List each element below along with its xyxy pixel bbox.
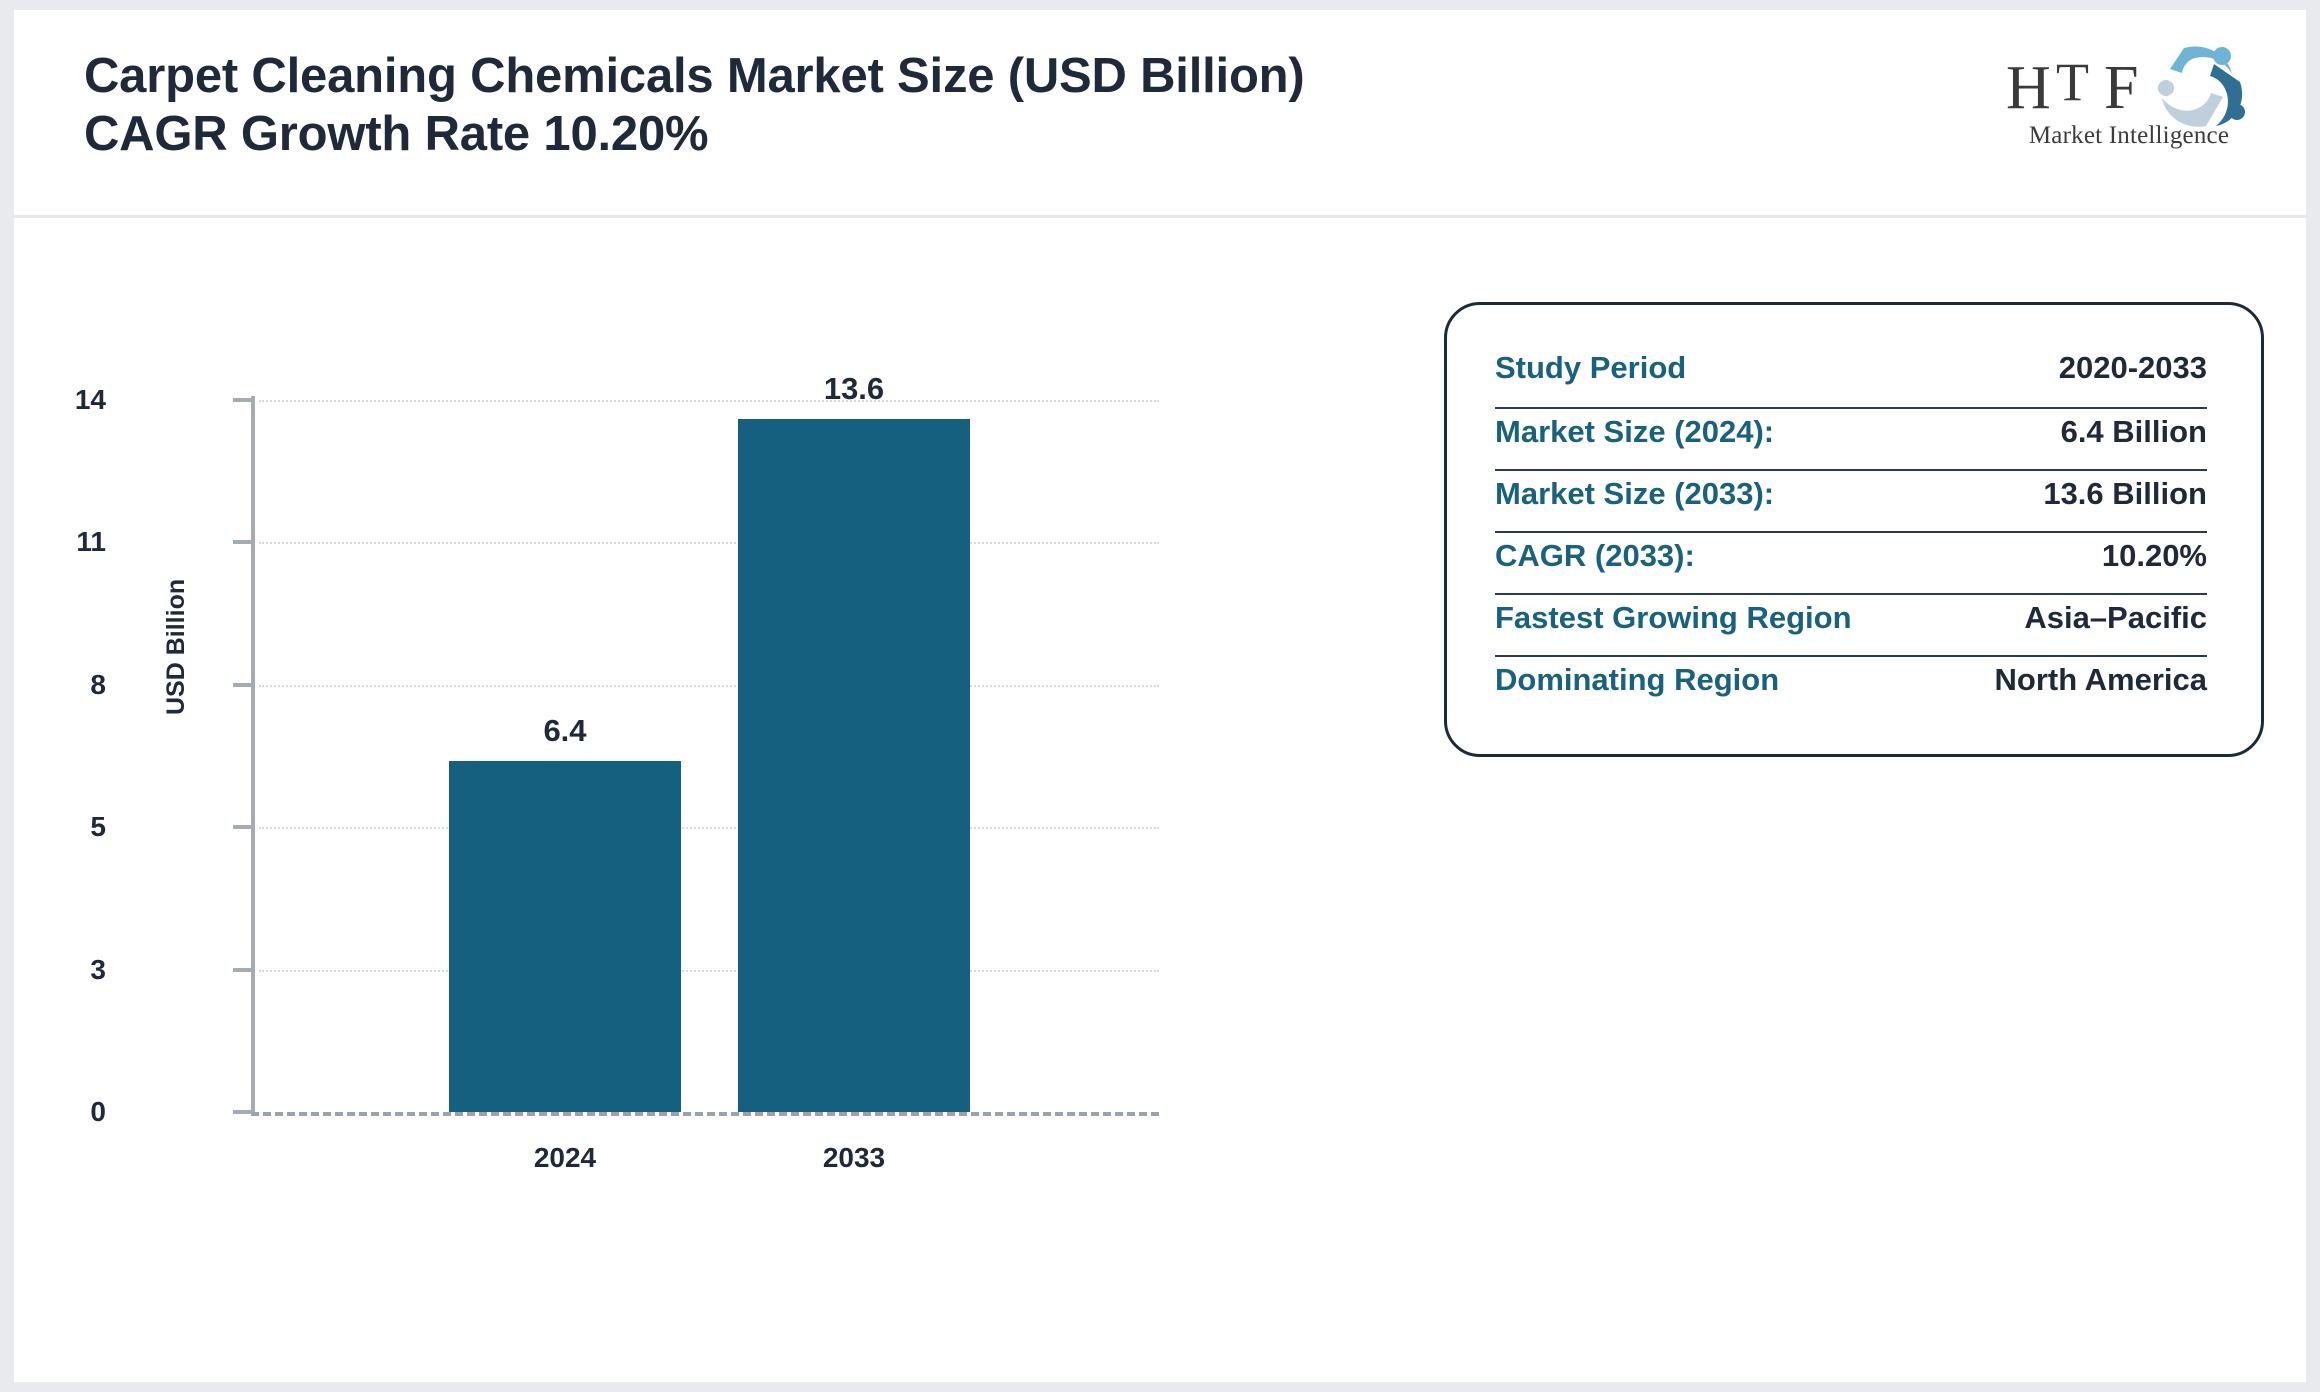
x-tick-label: 2024 (449, 1142, 681, 1174)
svg-text:F: F (2104, 54, 2138, 122)
summary-row-value: 13.6 Billion (2043, 476, 2207, 512)
bar-2033[interactable] (738, 419, 970, 1112)
gridline (259, 685, 1159, 687)
y-tick-mark (233, 825, 253, 829)
y-tick-label: 14 (75, 384, 106, 416)
y-tick-label: 11 (76, 526, 106, 558)
page-header: Carpet Cleaning Chemicals Market Size (U… (14, 10, 2306, 215)
y-tick-mark (233, 968, 253, 972)
summary-row-value: 2020-2033 (2059, 350, 2207, 386)
gridline (259, 970, 1159, 972)
page-title: Carpet Cleaning Chemicals Market Size (U… (84, 48, 1384, 164)
y-tick-mark (233, 540, 253, 544)
y-axis-label: USD Billion (162, 579, 191, 715)
summary-row-value: Asia–Pacific (2024, 600, 2207, 636)
summary-row-key: Study Period (1495, 350, 1686, 386)
svg-text:H: H (2006, 54, 2051, 122)
summary-row-value: 6.4 Billion (2061, 414, 2207, 450)
gridline (259, 827, 1159, 829)
gridline (259, 400, 1159, 402)
x-tick-label: 2033 (738, 1142, 970, 1174)
summary-row-value: 10.20% (2102, 538, 2207, 574)
summary-row-key: Fastest Growing Region (1495, 600, 1852, 636)
bar-2024[interactable] (449, 761, 681, 1112)
summary-row: Study Period2020-2033 (1495, 345, 2207, 407)
bar-value-label: 13.6 (738, 371, 970, 407)
y-tick-label: 5 (90, 811, 106, 843)
y-tick-mark (233, 398, 253, 402)
infographic-page: Carpet Cleaning Chemicals Market Size (U… (14, 10, 2306, 1382)
summary-row: Fastest Growing RegionAsia–Pacific (1495, 593, 2207, 655)
gridline (259, 542, 1159, 544)
summary-row: CAGR (2033):10.20% (1495, 531, 2207, 593)
y-tick-label: 8 (90, 669, 106, 701)
summary-card-rows: Study Period2020-2033Market Size (2024):… (1495, 345, 2207, 717)
htf-logo-icon: H T F (2000, 36, 2258, 128)
y-tick-label: 0 (90, 1096, 106, 1128)
summary-row-value: North America (1995, 662, 2207, 698)
summary-row: Dominating RegionNorth America (1495, 655, 2207, 717)
summary-row: Market Size (2033):13.6 Billion (1495, 469, 2207, 531)
x-axis-baseline (251, 1112, 1159, 1116)
y-axis-line (251, 396, 255, 1112)
summary-row-key: Dominating Region (1495, 662, 1779, 698)
summary-card: Study Period2020-2033Market Size (2024):… (1444, 302, 2264, 757)
brand-logo: H T F Market Intelligence (2000, 36, 2258, 156)
bar-chart: USD Billion 035811146.4202413.62033 (14, 215, 1264, 1382)
y-tick-mark (233, 1110, 253, 1114)
bar-value-label: 6.4 (449, 713, 681, 749)
plot-area: 035811146.4202413.62033 (259, 400, 1159, 1112)
summary-row: Market Size (2024):6.4 Billion (1495, 407, 2207, 469)
summary-row-key: Market Size (2033): (1495, 476, 1774, 512)
y-tick-mark (233, 683, 253, 687)
summary-row-key: CAGR (2033): (1495, 538, 1695, 574)
summary-row-key: Market Size (2024): (1495, 414, 1774, 450)
logo-subtitle: Market Intelligence (2000, 122, 2258, 150)
svg-text:T: T (2056, 52, 2089, 112)
y-tick-label: 3 (90, 954, 106, 986)
